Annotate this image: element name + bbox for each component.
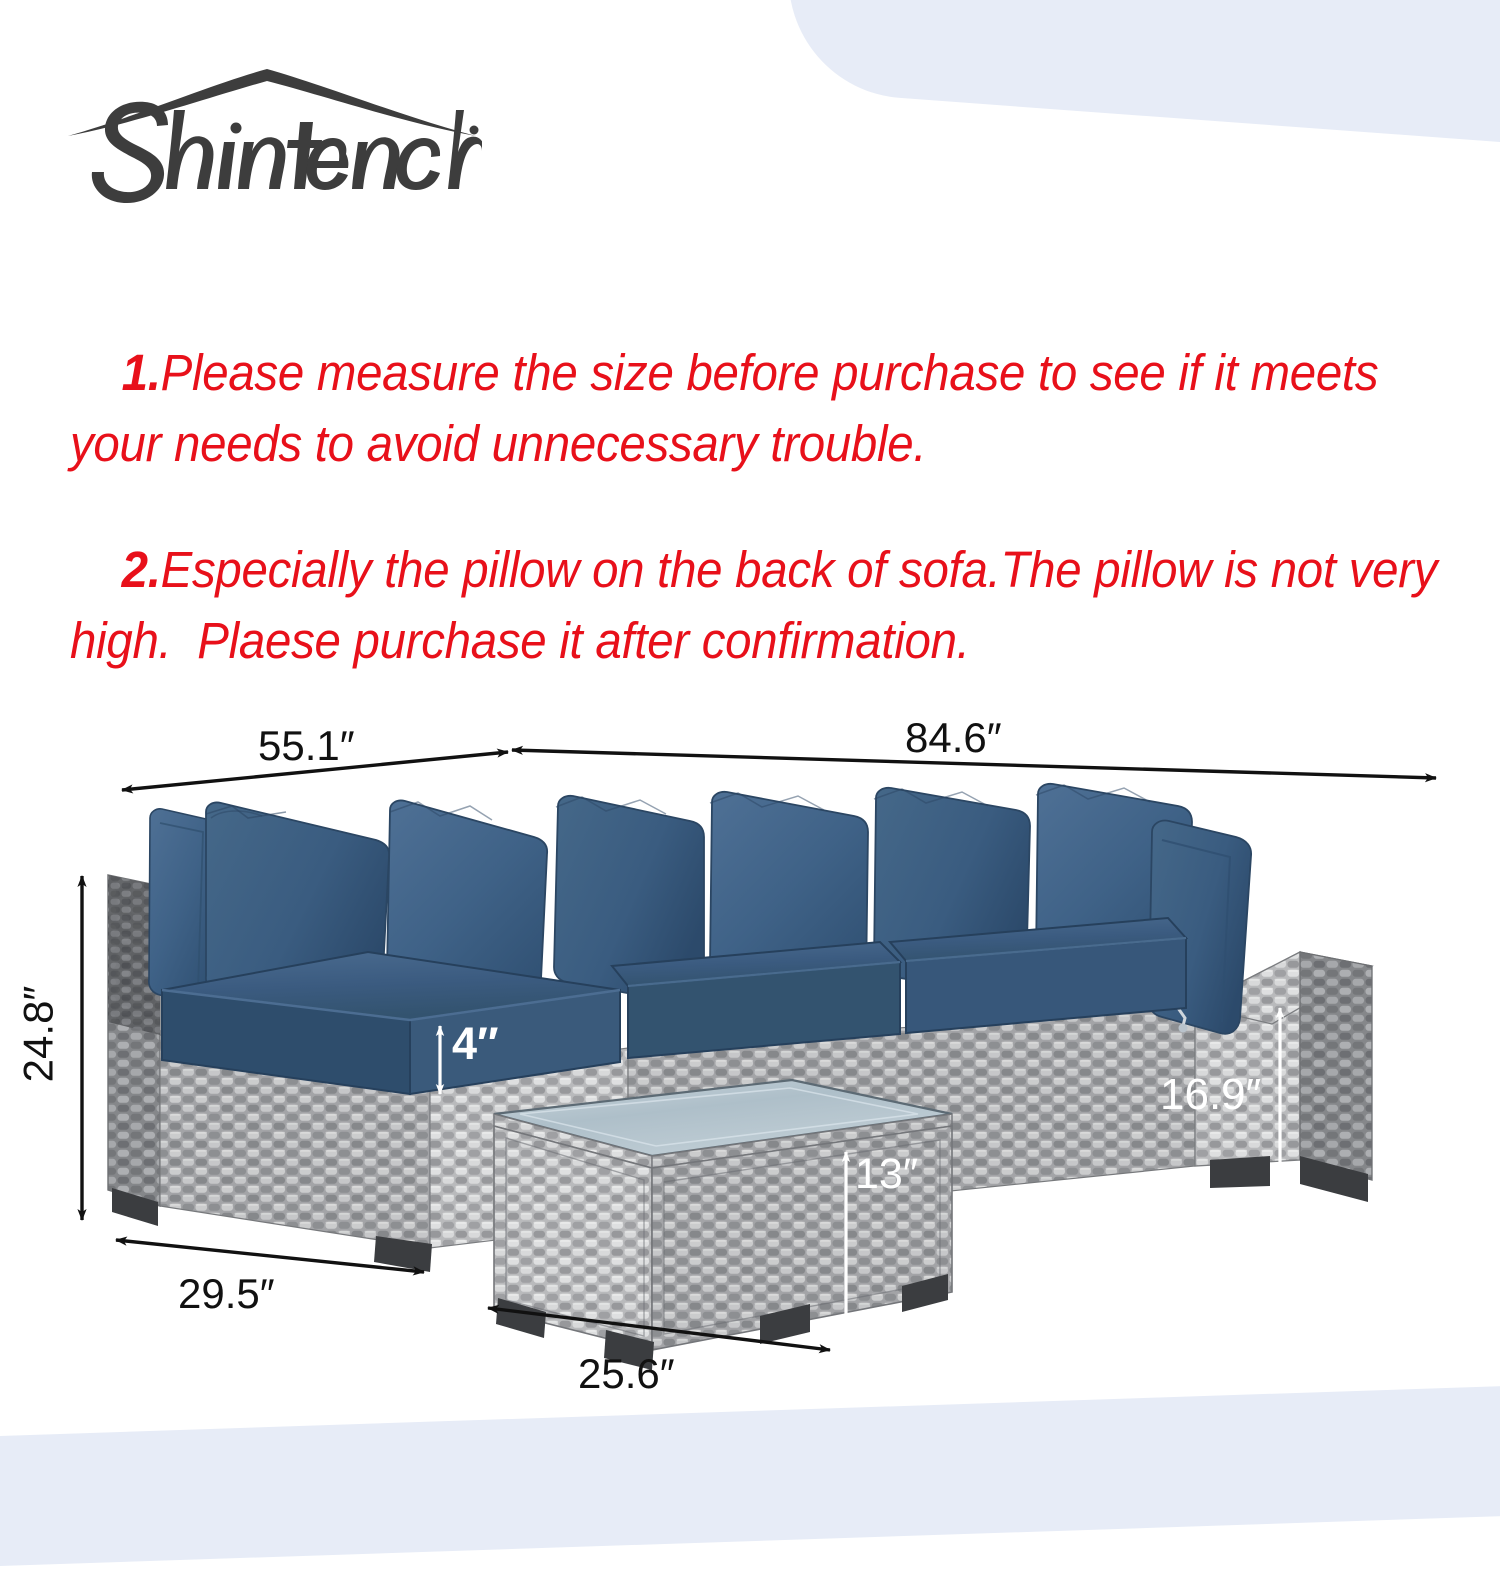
product-image-canvas: 1.Please measure the size before purchas… bbox=[0, 0, 1500, 1500]
dim-label-seat-depth: 29.5″ bbox=[178, 1270, 275, 1318]
brand-logo bbox=[62, 58, 482, 208]
dim-label-cushion-thickness: 4″ bbox=[452, 1018, 499, 1070]
product-dimension-diagram: 55.1″ 84.6″ 24.8″ 4″ 16.9″ 13″ 29.5″ 25.… bbox=[0, 690, 1500, 1450]
corner-accent-top-right bbox=[780, 0, 1500, 149]
notice-1-number: 1. bbox=[122, 344, 161, 401]
tent-roof-arc-icon bbox=[68, 69, 476, 136]
dim-label-seat-height: 16.9″ bbox=[1160, 1070, 1261, 1120]
dim-label-table-height: 13″ bbox=[855, 1150, 918, 1199]
notice-2-text: Especially the pillow on the back of sof… bbox=[70, 541, 1450, 668]
dim-label-width-back: 84.6″ bbox=[905, 714, 1002, 762]
notice-1-text: Please measure the size before purchase … bbox=[70, 344, 1404, 471]
brand-wordmark bbox=[92, 102, 482, 203]
dim-label-table-width: 25.6″ bbox=[578, 1350, 675, 1398]
notice-2-number: 2. bbox=[122, 541, 161, 598]
coffee-table bbox=[494, 1080, 952, 1370]
dim-label-depth-left: 55.1″ bbox=[258, 722, 355, 770]
dim-label-overall-height: 24.8″ bbox=[14, 986, 62, 1083]
